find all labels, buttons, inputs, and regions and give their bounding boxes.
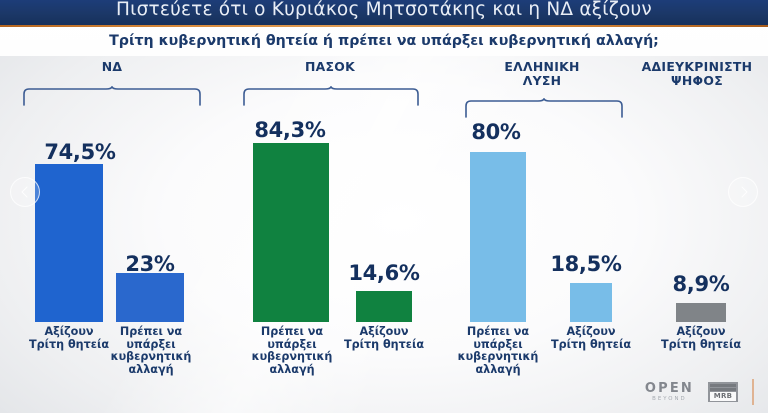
bar-6 (676, 303, 726, 322)
chevron-left-icon (21, 186, 32, 197)
group-label-nd: ΝΔ (22, 60, 202, 74)
page-title: Πιστεύετε ότι ο Κυριάκος Μητσοτάκης και … (0, 0, 768, 23)
bar-3 (356, 291, 412, 322)
open-logo-text: OPEN (645, 382, 694, 395)
chevron-right-icon (736, 186, 747, 197)
headline-band: Πιστεύετε ότι ο Κυριάκος Μητσοτάκης και … (0, 0, 768, 25)
mrb-logo-stripe (710, 388, 736, 391)
brace-elliniki-lysi (464, 98, 624, 118)
bar-1 (116, 273, 184, 322)
bar-category-3: Αξίζουν Τρίτη θητεία (334, 326, 434, 351)
bar-category-6: Αξίζουν Τρίτη θητεία (651, 326, 751, 351)
headline-accent-rule (0, 25, 768, 27)
bar-value-6: 8,9% (636, 272, 766, 296)
bar-2 (253, 143, 329, 322)
logo-group: OPEN BEYOND MRB (645, 379, 754, 405)
mrb-logo-text: MRB (710, 392, 736, 401)
bar-5 (570, 283, 612, 322)
logo-divider (752, 379, 754, 405)
brace-nd (22, 86, 202, 106)
bar-4 (470, 152, 526, 322)
bar-category-4: Πρέπει να υπάρξει κυβερνητική αλλαγή (448, 326, 548, 376)
bar-value-4: 80% (426, 120, 566, 144)
beyond-logo-text: BEYOND (652, 397, 687, 402)
mrb-logo: MRB (708, 382, 738, 402)
brace-pasok (242, 86, 420, 106)
bar-value-2: 84,3% (210, 118, 370, 142)
bar-value-0: 74,5% (0, 140, 160, 164)
carousel-prev-button[interactable] (10, 177, 40, 207)
bar-value-5: 18,5% (516, 252, 656, 276)
page-subtitle: Τρίτη κυβερνητική θητεία ή πρέπει να υπά… (0, 28, 768, 54)
mrb-logo-stripe (710, 384, 736, 387)
carousel-next-button[interactable] (728, 177, 758, 207)
open-beyond-logo: OPEN BEYOND (645, 382, 694, 402)
group-label-elliniki-lysi: ΕΛΛΗΝΙΚΗ ΛΥΣΗ (462, 60, 622, 87)
poll-chart-screen: Πιστεύετε ότι ο Κυριάκος Μητσοτάκης και … (0, 0, 768, 413)
bar-category-2: Πρέπει να υπάρξει κυβερνητική αλλαγή (243, 326, 341, 376)
chart-panel: ΝΔ ΠΑΣΟΚ ΕΛΛΗΝΙΚΗ ΛΥΣΗ ΑΔΙΕΥΚΡΙΝΙΣΤΗ ΨΗΦ… (0, 56, 768, 413)
group-label-pasok: ΠΑΣΟΚ (240, 60, 420, 74)
bar-0 (35, 164, 103, 322)
bar-category-1: Πρέπει να υπάρξει κυβερνητική αλλαγή (106, 326, 196, 376)
bar-category-5: Αξίζουν Τρίτη θητεία (546, 326, 636, 351)
bar-value-3: 14,6% (324, 261, 444, 285)
group-label-adiefkrinisti-psifos: ΑΔΙΕΥΚΡΙΝΙΣΤΗ ΨΗΦΟΣ (628, 60, 766, 87)
